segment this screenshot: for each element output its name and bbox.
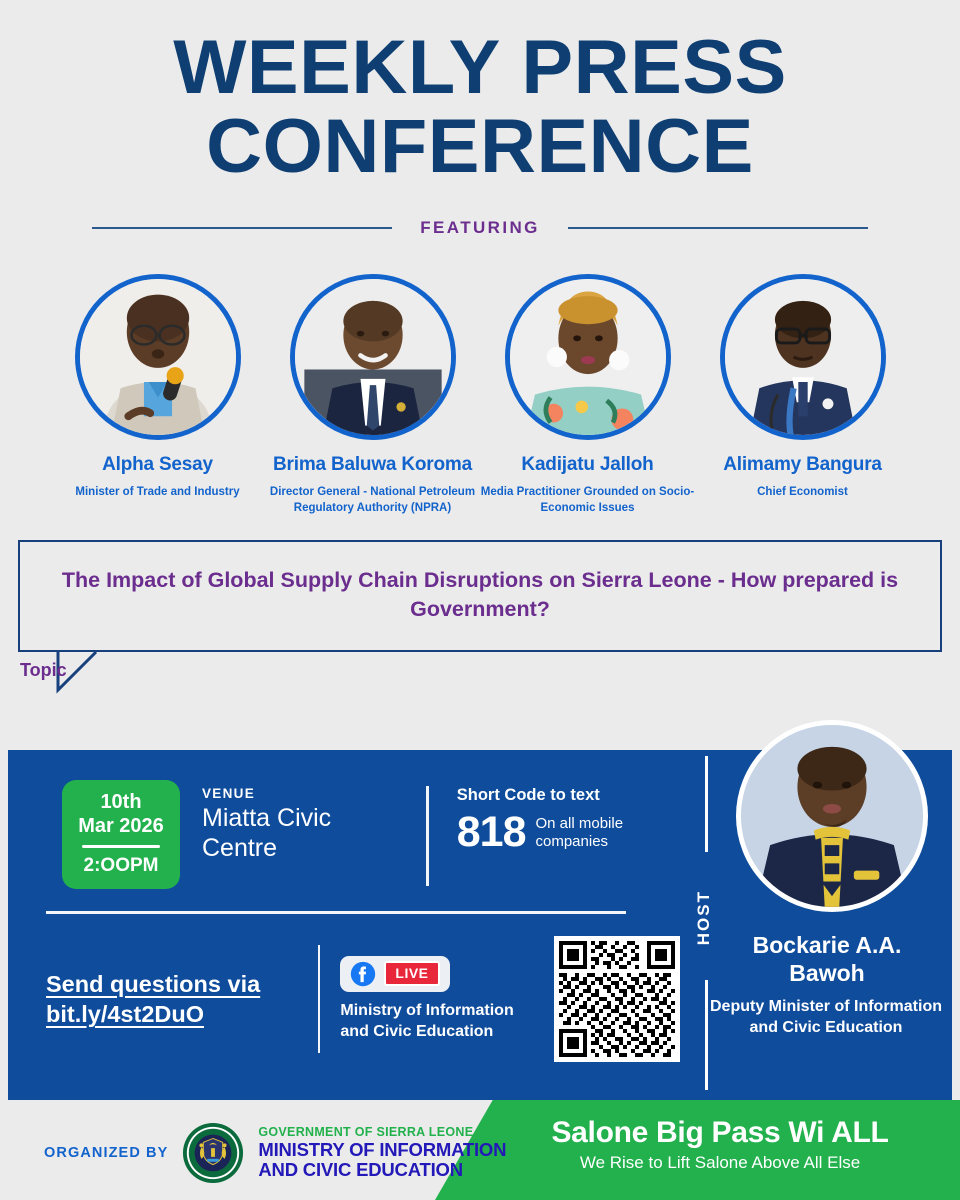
speakers-list: Alpha Sesay Minister of Trade and Indust… [0,274,960,516]
speaker-name: Brima Baluwa Koroma [265,454,480,476]
qr-code-icon [559,941,675,1057]
organized-by-label: ORGANIZED BY [44,1145,168,1161]
speaker-role: Minister of Trade and Industry [50,485,265,501]
speaker-card: Alimamy Bangura Chief Economist [695,274,910,516]
live-badge-label: LIVE [384,961,439,986]
venue-label: VENUE [202,786,396,801]
slogan-block: Salone Big Pass Wi ALL We Rise to Lift S… [480,1116,960,1173]
press-conference-poster: WEEKLY PRESS CONFERENCE FEATURING [0,0,960,1200]
speaker-photo-alimamy-bangura-icon [725,279,881,435]
host-label: HOST [694,890,714,945]
page-title-line-1: WEEKLY PRESS [0,30,960,105]
poster-footer: ORGANIZED BY GOVERNMENT OF SIERRA LEONE … [0,1100,960,1200]
event-details-panel: 10th Mar 2026 2:OOPM VENUE Miatta Civic … [8,750,952,1100]
divider-line-right [568,227,868,229]
vertical-divider-2 [318,945,321,1053]
facebook-live-badge[interactable]: LIVE [340,956,449,992]
host-photo-bockarie-bawoh-icon [741,725,923,907]
speech-bubble-tail-icon [56,650,128,698]
speaker-name: Kadijatu Jalloh [480,454,695,476]
slogan-sub: We Rise to Lift Salone Above All Else [480,1153,960,1173]
date-month-year: Mar 2026 [68,815,174,839]
speaker-role: Media Practitioner Grounded on Socio-Eco… [480,485,695,516]
divider-line-left [92,227,392,229]
date-divider [82,845,160,848]
speaker-name: Alimamy Bangura [695,454,910,476]
topic-text: The Impact of Global Supply Chain Disrup… [60,566,900,624]
venue-block: VENUE Miatta Civic Centre [202,780,396,863]
questions-link[interactable]: Send questions via bit.ly/4st2DuO [46,969,298,1030]
facebook-live-caption: Ministry of Information and Civic Educat… [340,1001,542,1043]
speaker-card: Kadijatu Jalloh Media Practitioner Groun… [480,274,695,516]
host-avatar [736,720,928,912]
slogan-main: Salone Big Pass Wi ALL [480,1116,960,1150]
host-name: Bockarie A.A. Bawoh [712,932,942,987]
event-primary-row: 10th Mar 2026 2:OOPM VENUE Miatta Civic … [8,750,680,889]
host-section: HOST [680,750,952,1100]
host-role: Deputy Minister of Information and Civic… [706,996,946,1039]
facebook-live-block: LIVE Ministry of Information and Civic E… [340,956,542,1043]
vertical-divider [426,786,429,886]
shortcode-note: On all mobile companies [536,815,680,851]
speaker-role: Chief Economist [695,485,910,501]
speaker-avatar-1 [75,274,241,440]
sierra-leone-coat-of-arms-seal-icon [182,1122,244,1184]
venue-name: Miatta Civic Centre [202,804,396,863]
speaker-photo-kadijatu-jalloh-icon [510,279,666,435]
speaker-role: Director General - National Petroleum Re… [265,485,480,516]
topic-box: The Impact of Global Supply Chain Disrup… [18,540,942,652]
event-time: 2:OOPM [68,855,174,877]
shortcode-label: Short Code to text [457,786,680,805]
facebook-icon [350,961,376,987]
host-divider-top [705,756,708,852]
questions-block: Send questions via bit.ly/4st2DuO [46,969,298,1030]
speaker-name: Alpha Sesay [50,454,265,476]
topic-section: The Impact of Global Supply Chain Disrup… [0,540,960,652]
qr-code[interactable] [554,936,680,1062]
speaker-avatar-2 [290,274,456,440]
organizer-row: ORGANIZED BY GOVERNMENT OF SIERRA LEONE … [44,1122,506,1184]
speaker-photo-alpha-sesay-icon [80,279,236,435]
featuring-divider-row: FEATURING [0,218,960,238]
horizontal-divider [46,911,626,914]
speaker-card: Brima Baluwa Koroma Director General - N… [265,274,480,516]
government-line: GOVERNMENT OF SIERRA LEONE [258,1126,506,1140]
poster-header: WEEKLY PRESS CONFERENCE FEATURING [0,0,960,238]
date-badge: 10th Mar 2026 2:OOPM [62,780,180,889]
topic-label: Topic [20,660,67,681]
event-details-left: 10th Mar 2026 2:OOPM VENUE Miatta Civic … [8,750,680,1100]
speaker-card: Alpha Sesay Minister of Trade and Indust… [50,274,265,516]
shortcode-block: Short Code to text 818 On all mobile com… [457,780,680,854]
event-secondary-row: Send questions via bit.ly/4st2DuO LIVE M… [8,914,680,1062]
shortcode-number: 818 [457,811,526,854]
featuring-label: FEATURING [420,218,540,238]
speaker-photo-brima-baluwa-koroma-icon [295,279,451,435]
page-title-line-2: CONFERENCE [0,109,960,184]
speaker-avatar-4 [720,274,886,440]
date-day: 10th [68,791,174,815]
speaker-avatar-3 [505,274,671,440]
ministry-line-1: MINISTRY OF INFORMATION [258,1140,506,1160]
ministry-text: GOVERNMENT OF SIERRA LEONE MINISTRY OF I… [258,1126,506,1180]
ministry-line-2: AND CIVIC EDUCATION [258,1160,506,1180]
